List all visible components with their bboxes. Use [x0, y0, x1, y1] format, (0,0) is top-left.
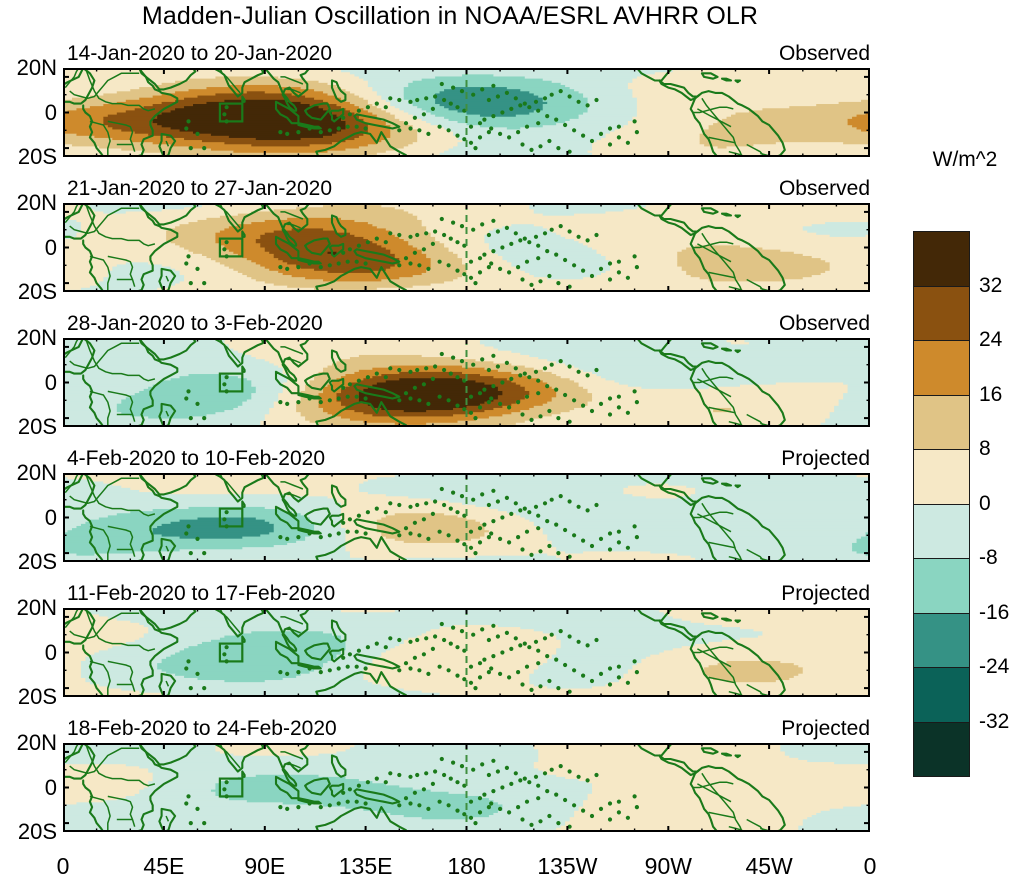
y-tick-label: 20S: [7, 146, 57, 168]
panel-frame: [63, 68, 870, 157]
y-tick-label: 20N: [7, 462, 57, 484]
y-tick-label: 20N: [7, 57, 57, 79]
colorbar-tick-label: -16: [979, 601, 1009, 625]
panel-frame: [63, 608, 870, 697]
colorbar-tick-label: 24: [979, 328, 1002, 352]
y-tick-label: 20S: [7, 821, 57, 843]
y-tick-label: 20N: [7, 192, 57, 214]
x-tick-label: 135E: [339, 853, 393, 880]
panel-frame: [63, 203, 870, 292]
y-tick-label: 20N: [7, 732, 57, 754]
colorbar-band: [913, 613, 970, 669]
panel-frame: [63, 473, 870, 562]
colorbar-band: [913, 722, 970, 778]
panel-status-label: Observed: [779, 312, 870, 336]
map-panel: 18-Feb-2020 to 24-Feb-2020Projected20N02…: [63, 743, 870, 832]
panel-status-label: Observed: [779, 42, 870, 66]
colorbar-band: [913, 395, 970, 451]
colorbar-band: [913, 231, 970, 287]
y-tick-label: 0: [7, 507, 57, 529]
colorbar-band: [913, 286, 970, 342]
panel-date-label: 21-Jan-2020 to 27-Jan-2020: [67, 177, 332, 201]
colorbar-band: [913, 558, 970, 614]
colorbar-tick-label: 0: [979, 492, 991, 516]
map-panel: 21-Jan-2020 to 27-Jan-2020Observed20N020…: [63, 203, 870, 292]
y-tick-label: 0: [7, 102, 57, 124]
y-tick-label: 20S: [7, 416, 57, 438]
panel-date-label: 18-Feb-2020 to 24-Feb-2020: [67, 717, 337, 741]
panel-status-label: Projected: [781, 717, 870, 741]
x-tick-label: 90E: [244, 853, 285, 880]
colorbar-tick-label: -32: [979, 710, 1009, 734]
colorbar-tick-label: 8: [979, 437, 991, 461]
colorbar-band: [913, 667, 970, 723]
panel-date-label: 4-Feb-2020 to 10-Feb-2020: [67, 447, 325, 471]
mjo-olr-figure: Madden-Julian Oscillation in NOAA/ESRL A…: [0, 0, 1021, 888]
y-tick-label: 20N: [7, 327, 57, 349]
colorbar-tick-label: 16: [979, 383, 1002, 407]
x-tick-label: 180: [447, 853, 485, 880]
panel-frame: [63, 338, 870, 427]
colorbar-band: [913, 340, 970, 396]
x-axis: 045E90E135E180135W90W45W0: [63, 853, 870, 883]
x-tick-label: 45W: [745, 853, 792, 880]
y-tick-label: 20S: [7, 686, 57, 708]
y-tick-label: 0: [7, 237, 57, 259]
y-tick-label: 0: [7, 777, 57, 799]
x-tick-label: 135W: [537, 853, 597, 880]
panel-date-label: 14-Jan-2020 to 20-Jan-2020: [67, 42, 332, 66]
panel-frame: [63, 743, 870, 832]
panel-date-label: 28-Jan-2020 to 3-Feb-2020: [67, 312, 323, 336]
map-panel: 11-Feb-2020 to 17-Feb-2020Projected20N02…: [63, 608, 870, 697]
x-tick-label: 90W: [645, 853, 692, 880]
map-panel: 14-Jan-2020 to 20-Jan-2020Observed20N020…: [63, 68, 870, 157]
panel-status-label: Projected: [781, 447, 870, 471]
colorbar-tick-label: -24: [979, 655, 1009, 679]
figure-title: Madden-Julian Oscillation in NOAA/ESRL A…: [0, 2, 900, 31]
y-tick-label: 20S: [7, 551, 57, 573]
colorbar-unit-label: W/m^2: [905, 148, 1021, 172]
map-panel: 28-Jan-2020 to 3-Feb-2020Observed20N020S: [63, 338, 870, 427]
x-tick-label: 45E: [143, 853, 184, 880]
x-tick-label: 0: [864, 853, 877, 880]
colorbar-band: [913, 504, 970, 560]
x-tick-label: 0: [57, 853, 70, 880]
colorbar-tick-label: -8: [979, 546, 998, 570]
y-tick-label: 20N: [7, 597, 57, 619]
y-tick-label: 20S: [7, 281, 57, 303]
y-tick-label: 0: [7, 642, 57, 664]
y-tick-label: 0: [7, 372, 57, 394]
colorbar-band: [913, 449, 970, 505]
colorbar-tick-label: 32: [979, 274, 1002, 298]
panel-status-label: Observed: [779, 177, 870, 201]
colorbar: 32241680-8-16-24-32: [913, 231, 970, 776]
panel-status-label: Projected: [781, 582, 870, 606]
panel-date-label: 11-Feb-2020 to 17-Feb-2020: [67, 582, 335, 606]
map-panel: 4-Feb-2020 to 10-Feb-2020Projected20N020…: [63, 473, 870, 562]
